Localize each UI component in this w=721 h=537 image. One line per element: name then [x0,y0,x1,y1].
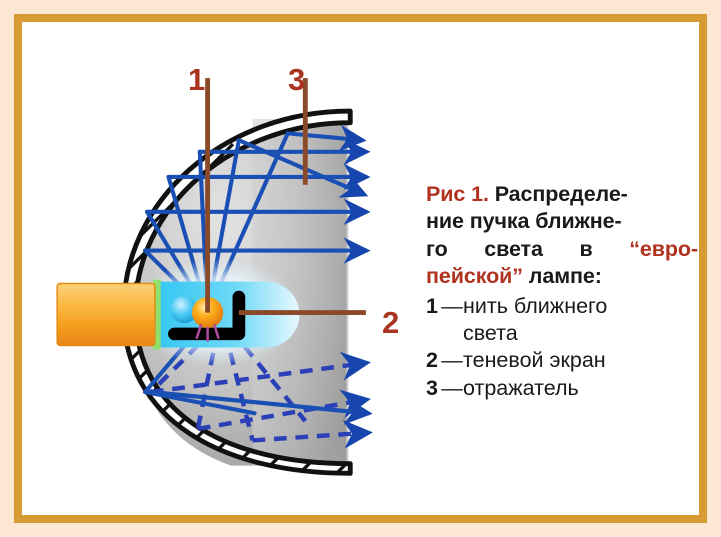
legend-dash-1: — [441,293,463,320]
legend-text-3: отражатель [463,375,579,402]
caption-line-3-a: го [426,236,448,263]
legend-list: 1 — нить ближнего света 2 — теневой экра… [426,293,698,402]
legend-item-3: 3 — отражатель [426,375,698,402]
caption-legend-block: Рис 1. Распределе- ние пучка ближне- го … [426,181,698,402]
caption-line-3-d: “евро- [629,236,698,263]
legend-dash-3: — [441,375,463,402]
callout-2: 2 [382,305,399,341]
caption-line-2: ние пучка ближне- [426,208,698,235]
caption-line-4: пейской” лампе: [426,263,698,290]
legend-text-2: теневой экран [463,347,606,374]
caption-line-3-b: света [484,236,543,263]
caption-line-3-c: в [579,236,592,263]
legend-text-1-cont: света [426,320,698,347]
legend-dash-2: — [441,347,463,374]
figure-page: 1 3 2 Рис 1. Распределе- ние пучка ближн… [0,0,721,537]
legend-number-1: 1 [426,293,441,320]
caption-line-1-rest: Распределе- [489,182,628,206]
callout-3: 3 [288,62,305,98]
caption-line-1: Рис 1. Распределе- [426,181,698,208]
legend-item-2: 2 — теневой экран [426,347,698,374]
caption-line-4-a: пейской” [426,264,523,288]
legend-item-1: 1 — нить ближнего [426,293,698,320]
caption-line-4-b: лампе: [529,264,602,288]
caption-line-3: го света в “евро- [426,236,698,263]
callout-1: 1 [188,62,205,98]
legend-text-1: нить ближнего [463,293,607,320]
legend-number-2: 2 [426,347,441,374]
legend-number-3: 3 [426,375,441,402]
figure-label: Рис 1. [426,182,489,206]
figure-frame: 1 3 2 Рис 1. Распределе- ние пучка ближн… [14,14,707,523]
